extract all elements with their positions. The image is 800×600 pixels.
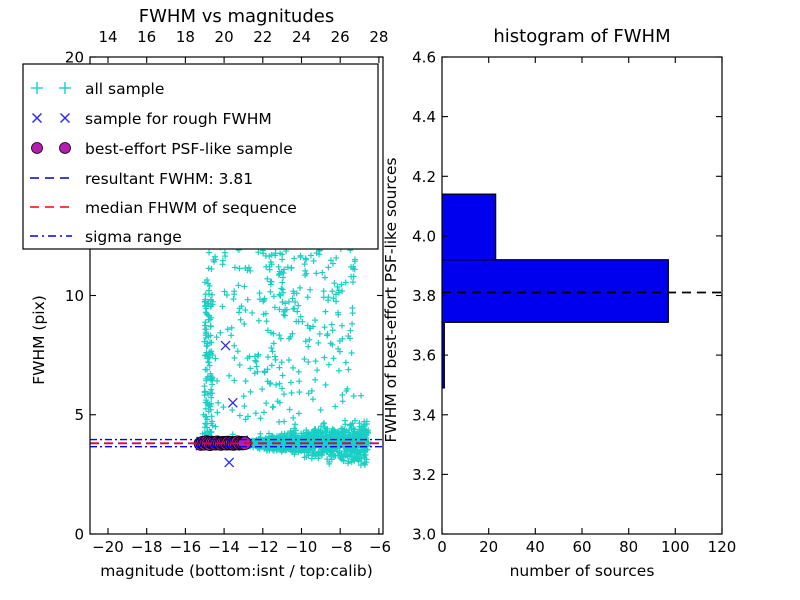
x-tick-label: 120 (708, 538, 737, 556)
top-tick-label: 24 (292, 28, 311, 46)
top-tick-label: 22 (253, 28, 272, 46)
right-panel: histogram of FWHM (382, 26, 736, 580)
legend-label: sigma range (85, 228, 182, 246)
bottom-tick-label: −16 (170, 538, 202, 556)
y-tick-label: 4.0 (412, 227, 436, 245)
left-panel-xlabel: magnitude (bottom:isnt / top:calib) (100, 562, 373, 580)
plot-svg: FWHM vs magnitudes 14 16 18 20 22 24 26 … (0, 0, 800, 600)
legend-label: median FHWM of sequence (85, 199, 297, 217)
top-tick-label: 14 (98, 28, 117, 46)
histogram-bars (442, 194, 668, 388)
x-tick-label: 20 (479, 538, 498, 556)
x-tick-label: 0 (437, 538, 447, 556)
left-panel-title: FWHM vs magnitudes (139, 6, 334, 27)
legend-label: all sample (85, 80, 164, 98)
x-tick-label: 100 (661, 538, 690, 556)
left-panel-ylabel: FWHM (pix) (30, 295, 48, 385)
y-tick-label: 0 (74, 526, 84, 544)
right-panel-xlabel: number of sources (510, 562, 655, 580)
bottom-tick-label: −14 (208, 538, 240, 556)
top-tick-label: 26 (331, 28, 350, 46)
y-tick-label: 3.0 (412, 526, 436, 544)
top-tick-label: 18 (176, 28, 195, 46)
legend-label: resultant FWHM: 3.81 (85, 170, 253, 188)
top-tick-label: 28 (369, 28, 388, 46)
x-tick-label: 60 (572, 538, 591, 556)
bottom-tick-label: −18 (131, 538, 163, 556)
y-tick-label: 4.2 (412, 168, 436, 186)
y-tick-label: 3.4 (412, 406, 436, 424)
y-tick-label: 10 (65, 287, 84, 305)
bottom-tick-label: −12 (247, 538, 279, 556)
right-panel-y-tick-labels: 3.0 3.2 3.4 3.6 3.8 4.0 4.2 4.4 4.6 (412, 49, 436, 544)
left-panel: FWHM vs magnitudes 14 16 18 20 22 24 26 … (23, 0, 391, 580)
bottom-tick-label: −10 (286, 538, 318, 556)
histogram-bar (442, 260, 668, 323)
histogram-bar (442, 194, 496, 260)
right-panel-title: histogram of FWHM (493, 26, 670, 47)
figure-canvas: FWHM vs magnitudes 14 16 18 20 22 24 26 … (0, 0, 800, 600)
left-panel-bottom-tick-labels: −20 −18 −16 −14 −12 −10 −8 −6 (92, 538, 391, 556)
x-tick-label: 80 (619, 538, 638, 556)
right-panel-data (442, 194, 722, 388)
y-tick-label: 4.4 (412, 108, 436, 126)
bottom-tick-label: −8 (330, 538, 352, 556)
right-panel-x-tick-labels: 0 20 40 60 80 100 120 (437, 538, 736, 556)
x-tick-label: 40 (526, 538, 545, 556)
y-tick-label: 4.6 (412, 49, 436, 67)
y-tick-label: 3.8 (412, 287, 436, 305)
top-tick-label: 16 (137, 28, 156, 46)
y-tick-label: 5 (74, 406, 84, 424)
legend-label: best-effort PSF-like sample (85, 140, 293, 158)
legend: all sample sample for rough FWHM best-ef… (23, 64, 378, 249)
bottom-tick-label: −6 (369, 538, 391, 556)
y-tick-label: 3.2 (412, 466, 436, 484)
legend-label: sample for rough FWHM (85, 110, 272, 128)
y-tick-label: 3.6 (412, 347, 436, 365)
bottom-tick-label: −20 (92, 538, 124, 556)
top-tick-label: 20 (215, 28, 234, 46)
right-panel-ylabel: FWHM of best-effort PSF-like sources (382, 157, 400, 442)
left-panel-top-tick-labels: 14 16 18 20 22 24 26 28 (98, 28, 388, 46)
